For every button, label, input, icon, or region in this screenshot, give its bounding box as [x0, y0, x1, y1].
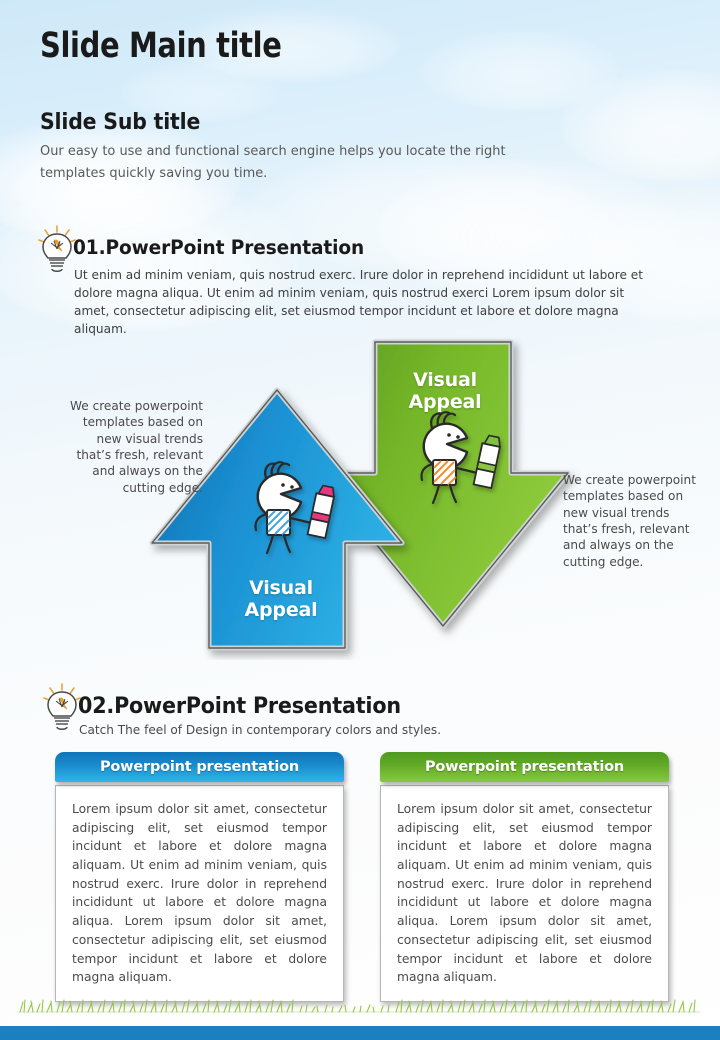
card-green: Powerpoint presentation Lorem ipsum dolo… [380, 752, 669, 1002]
diagram-text-right: We create powerpoint templates based on … [563, 472, 707, 570]
grass-decoration [0, 992, 720, 1014]
diagram-text-left: We create powerpoint templates based on … [61, 398, 203, 496]
card-green-body: Lorem ipsum dolor sit amet, consectetur … [380, 785, 669, 1002]
card-blue-body: Lorem ipsum dolor sit amet, consectetur … [55, 785, 344, 1002]
cloud-shape [560, 70, 720, 180]
slide-canvas: Slide Main title Slide Sub title Our eas… [0, 0, 720, 1040]
slide-sub-description: Our easy to use and functional search en… [40, 140, 558, 185]
card-green-header: Powerpoint presentation [380, 752, 669, 782]
section-1-title: 01.PowerPoint Presentation [73, 236, 364, 259]
arrow-down-label: Visual Appeal [392, 370, 498, 413]
lightbulb-icon [41, 682, 83, 734]
slide-main-title: Slide Main title [40, 26, 282, 66]
section-2-subtitle: Catch The feel of Design in contemporary… [79, 722, 441, 737]
section-2-title: 02.PowerPoint Presentation [78, 694, 401, 719]
cloud-shape [420, 30, 620, 110]
lightbulb-icon [36, 224, 78, 276]
section-1-body: Ut enim ad minim veniam, quis nostrud ex… [74, 266, 663, 338]
card-blue-header: Powerpoint presentation [55, 752, 344, 782]
arrow-up-label: Visual Appeal [228, 578, 334, 621]
card-blue: Powerpoint presentation Lorem ipsum dolo… [55, 752, 344, 1002]
slide-sub-title: Slide Sub title [40, 110, 200, 135]
footer-bar [0, 1026, 720, 1040]
